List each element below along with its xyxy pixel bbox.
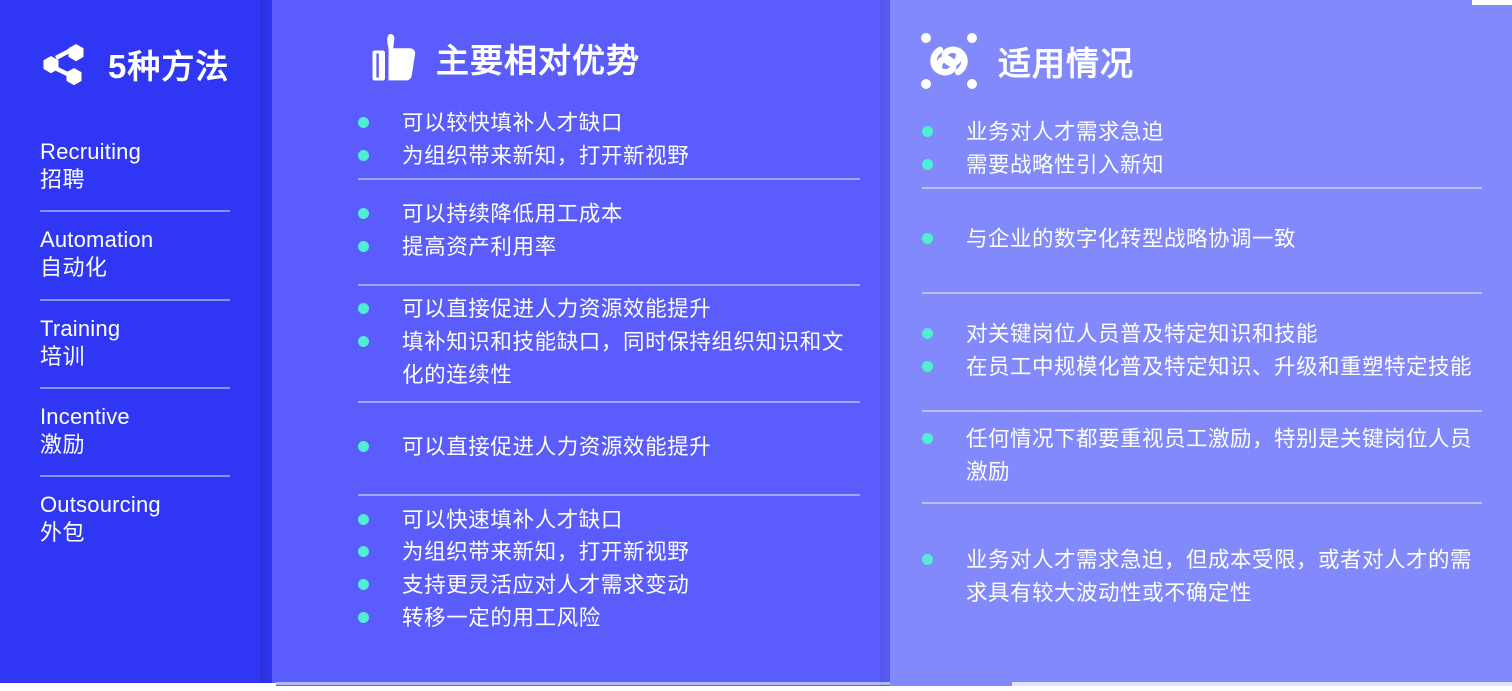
- methods-title: 5种方法: [108, 40, 229, 88]
- bullet-item: 可以直接促进人力资源效能提升: [358, 431, 860, 464]
- bullet-item: 可以持续降低用工成本: [358, 198, 860, 231]
- method-label-en: Incentive: [40, 403, 230, 431]
- bullet-dot-icon: [358, 612, 369, 623]
- fit-title: 适用情况: [998, 37, 1134, 85]
- method-label-zh: 招聘: [40, 166, 230, 194]
- bullet-text: 可以直接促进人力资源效能提升: [402, 431, 711, 464]
- bullet-dot-icon: [358, 117, 369, 128]
- bullet-dot-icon: [922, 126, 933, 137]
- bullet-item: 业务对人才需求急迫: [922, 116, 1482, 149]
- column-fit: 适用情况 业务对人才需求急迫 需要战略性引入新知 与企业的数字化转型战略协调一致: [890, 0, 1512, 691]
- method-label-en: Outsourcing: [40, 491, 230, 519]
- bullet-item: 提高资产利用率: [358, 231, 860, 264]
- bullet-item: 支持更灵活应对人才需求变动: [358, 569, 860, 602]
- bullet-text: 在员工中规模化普及特定知识、升级和重塑特定技能: [966, 351, 1472, 384]
- bullet-text: 可以直接促进人力资源效能提升: [402, 293, 711, 326]
- fit-row: 业务对人才需求急迫 需要战略性引入新知: [922, 112, 1482, 187]
- method-label-en: Recruiting: [40, 138, 230, 166]
- bullet-item: 任何情况下都要重视员工激励，特别是关键岗位人员激励: [922, 423, 1482, 488]
- column-methods: 5种方法 Recruiting 招聘 Automation 自动化 Traini…: [0, 0, 272, 691]
- advantage-row: 可以直接促进人力资源效能提升: [358, 401, 860, 494]
- methods-header: 5种方法: [0, 0, 272, 90]
- method-label-zh: 培训: [40, 343, 230, 371]
- knot-nodes-icon: [918, 30, 980, 92]
- bullet-item: 可以直接促进人力资源效能提升: [358, 293, 860, 326]
- fit-rows: 业务对人才需求急迫 需要战略性引入新知 与企业的数字化转型战略协调一致 对关键岗…: [890, 92, 1512, 652]
- advantages-rows: 可以较快填补人才缺口 为组织带来新知，打开新视野 可以持续降低用工成本 提高资产…: [272, 84, 890, 644]
- bullet-item: 填补知识和技能缺口，同时保持组织知识和文化的连续性: [358, 326, 860, 391]
- bullet-dot-icon: [358, 150, 369, 161]
- method-item[interactable]: Incentive 激励: [40, 387, 230, 475]
- slide-root: 5种方法 Recruiting 招聘 Automation 自动化 Traini…: [0, 0, 1512, 691]
- method-item[interactable]: Automation 自动化: [40, 210, 230, 298]
- bullet-text: 转移一定的用工风险: [402, 602, 601, 635]
- bullet-dot-icon: [922, 433, 933, 444]
- advantage-row: 可以持续降低用工成本 提高资产利用率: [358, 178, 860, 284]
- bullet-text: 可以较快填补人才缺口: [402, 107, 623, 140]
- bullet-text: 填补知识和技能缺口，同时保持组织知识和文化的连续性: [402, 326, 860, 391]
- fit-row: 业务对人才需求急迫，但成本受限，或者对人才的需求具有较大波动性或不确定性: [922, 502, 1482, 652]
- advantages-title: 主要相对优势: [436, 34, 640, 82]
- share-nodes-icon: [38, 38, 90, 90]
- bullet-dot-icon: [922, 554, 933, 565]
- bullet-text: 任何情况下都要重视员工激励，特别是关键岗位人员激励: [966, 423, 1482, 488]
- bullet-text: 需要战略性引入新知: [966, 149, 1164, 182]
- bullet-text: 业务对人才需求急迫，但成本受限，或者对人才的需求具有较大波动性或不确定性: [966, 544, 1482, 609]
- bullet-dot-icon: [922, 328, 933, 339]
- methods-list: Recruiting 招聘 Automation 自动化 Training 培训…: [0, 124, 272, 564]
- method-label-en: Training: [40, 315, 230, 343]
- method-label-zh: 自动化: [40, 254, 230, 282]
- advantage-row: 可以直接促进人力资源效能提升 填补知识和技能缺口，同时保持组织知识和文化的连续性: [358, 284, 860, 401]
- bullet-text: 与企业的数字化转型战略协调一致: [966, 223, 1296, 256]
- method-item[interactable]: Training 培训: [40, 299, 230, 387]
- fit-row: 任何情况下都要重视员工激励，特别是关键岗位人员激励: [922, 410, 1482, 502]
- bullet-item: 为组织带来新知，打开新视野: [358, 140, 860, 173]
- bullet-item: 与企业的数字化转型战略协调一致: [922, 223, 1482, 256]
- bullet-dot-icon: [922, 233, 933, 244]
- bullet-dot-icon: [358, 514, 369, 525]
- bullet-dot-icon: [358, 579, 369, 590]
- bullet-dot-icon: [358, 208, 369, 219]
- bullet-dot-icon: [358, 336, 369, 347]
- fit-row: 对关键岗位人员普及特定知识和技能 在员工中规模化普及特定知识、升级和重塑特定技能: [922, 292, 1482, 410]
- bullet-dot-icon: [358, 546, 369, 557]
- bullet-text: 业务对人才需求急迫: [966, 116, 1164, 149]
- bullet-item: 为组织带来新知，打开新视野: [358, 536, 860, 569]
- bullet-item: 需要战略性引入新知: [922, 149, 1482, 182]
- method-label-en: Automation: [40, 226, 230, 254]
- advantage-row: 可以较快填补人才缺口 为组织带来新知，打开新视野: [358, 104, 860, 178]
- bullet-text: 可以快速填补人才缺口: [402, 504, 623, 537]
- advantages-header: 主要相对优势: [272, 0, 890, 84]
- thumbs-up-icon: [370, 32, 418, 84]
- method-label-zh: 激励: [40, 431, 230, 459]
- bullet-text: 支持更灵活应对人才需求变动: [402, 569, 689, 602]
- bullet-item: 对关键岗位人员普及特定知识和技能: [922, 318, 1482, 351]
- bullet-item: 业务对人才需求急迫，但成本受限，或者对人才的需求具有较大波动性或不确定性: [922, 544, 1482, 609]
- bullet-item: 在员工中规模化普及特定知识、升级和重塑特定技能: [922, 351, 1482, 384]
- bullet-dot-icon: [922, 361, 933, 372]
- bullet-item: 可以快速填补人才缺口: [358, 504, 860, 537]
- advantage-row: 可以快速填补人才缺口 为组织带来新知，打开新视野 支持更灵活应对人才需求变动 转…: [358, 494, 860, 644]
- fit-header: 适用情况: [890, 0, 1512, 92]
- bullet-text: 可以持续降低用工成本: [402, 198, 623, 231]
- bullet-item: 可以较快填补人才缺口: [358, 107, 860, 140]
- fit-row: 与企业的数字化转型战略协调一致: [922, 187, 1482, 292]
- bullet-text: 对关键岗位人员普及特定知识和技能: [966, 318, 1318, 351]
- method-item[interactable]: Recruiting 招聘: [40, 124, 230, 210]
- bullet-dot-icon: [358, 303, 369, 314]
- method-label-zh: 外包: [40, 519, 230, 547]
- bullet-dot-icon: [922, 159, 933, 170]
- method-item[interactable]: Outsourcing 外包: [40, 475, 230, 563]
- bullet-text: 为组织带来新知，打开新视野: [402, 140, 689, 173]
- bullet-text: 为组织带来新知，打开新视野: [402, 536, 689, 569]
- column-advantages: 主要相对优势 可以较快填补人才缺口 为组织带来新知，打开新视野 可以持续降低用工…: [272, 0, 890, 691]
- bullet-text: 提高资产利用率: [402, 231, 557, 264]
- bullet-dot-icon: [358, 441, 369, 452]
- bullet-item: 转移一定的用工风险: [358, 602, 860, 635]
- bullet-dot-icon: [358, 241, 369, 252]
